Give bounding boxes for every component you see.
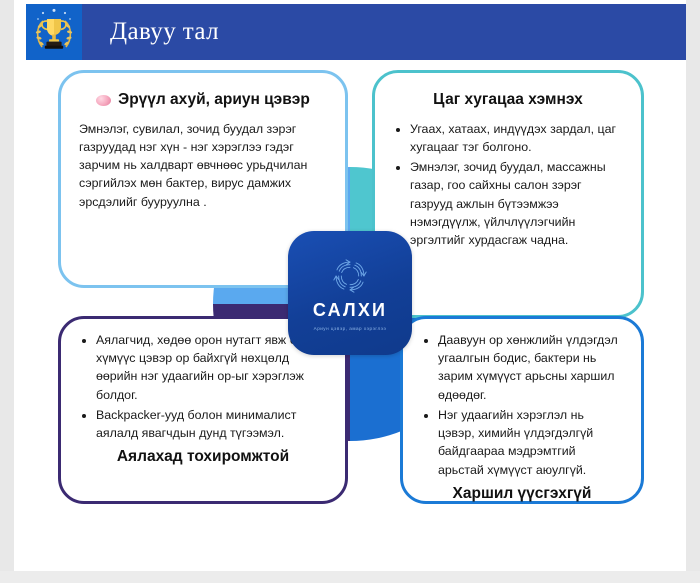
card-time-saving-title: Цаг хугацаа хэмнэх bbox=[393, 91, 623, 110]
card-no-allergy[interactable]: Даавуун ор хөнжлийн үлдэгдэл угаалгын бо… bbox=[400, 316, 644, 504]
card-time-saving-body: Угаах, хатаах, индүүдэх зардал, цаг хуга… bbox=[393, 120, 623, 250]
card-hygiene-paragraph: Эмнэлэг, сувилал, зочид буудал зэрэг газ… bbox=[79, 120, 327, 211]
card-time-saving-bullets: Угаах, хатаах, индүүдэх зардал, цаг хуга… bbox=[393, 120, 623, 250]
card-no-allergy-title: Харшил үүсгэхгүй bbox=[421, 485, 623, 504]
frame-edge-left bbox=[0, 0, 14, 583]
list-item: Угаах, хатаах, индүүдэх зардал, цаг хуга… bbox=[410, 120, 623, 156]
card-hygiene-title-text: Эрүүл ахуй, ариун цэвэр bbox=[118, 91, 310, 110]
page-title: Давуу тал bbox=[110, 18, 219, 46]
logo-tagline: Ариун цэвэр, амар хэрэглээ bbox=[308, 325, 392, 332]
card-hygiene-body: Эмнэлэг, сувилал, зочид буудал зэрэг газ… bbox=[79, 120, 327, 211]
card-travel-friendly-title: Аялахад тохиромжтой bbox=[79, 448, 327, 467]
card-time-saving[interactable]: Цаг хугацаа хэмнэх Угаах, хатаах, индүүд… bbox=[372, 70, 644, 318]
header-bar: Давуу тал bbox=[26, 4, 686, 60]
list-item: Backpacker-ууд болон минималист аялалд я… bbox=[96, 406, 327, 442]
list-item: Нэг удаагийн хэрэглэл нь цэвэр, химийн ү… bbox=[438, 406, 623, 479]
card-no-allergy-body: Даавуун ор хөнжлийн үлдэгдэл угаалгын бо… bbox=[421, 331, 623, 479]
frame-edge-right bbox=[686, 0, 700, 583]
slide-canvas: Давуу тал Эрүүл ахуй, ариун цэвэр Эмнэлэ… bbox=[0, 0, 700, 583]
card-no-allergy-bullets: Даавуун ор хөнжлийн үлдэгдэл угаалгын бо… bbox=[421, 331, 623, 479]
trophy-icon bbox=[29, 7, 79, 57]
card-travel-friendly-body: Аялагчид, хөдөө орон нутагт явж буй хүмү… bbox=[79, 331, 327, 442]
frame-edge-bottom bbox=[0, 571, 700, 583]
soap-icon bbox=[96, 95, 111, 106]
list-item: Даавуун ор хөнжлийн үлдэгдэл угаалгын бо… bbox=[438, 331, 623, 404]
card-travel-friendly-bullets: Аялагчид, хөдөө орон нутагт явж буй хүмү… bbox=[79, 331, 327, 442]
header-badge bbox=[26, 4, 82, 60]
wind-swirl-icon bbox=[325, 256, 375, 296]
center-logo-tile: САЛХИ Ариун цэвэр, амар хэрэглээ bbox=[288, 231, 412, 355]
list-item: Эмнэлэг, зочид буудал, массажны газар, г… bbox=[410, 158, 623, 249]
card-hygiene-title: Эрүүл ахуй, ариун цэвэр bbox=[79, 91, 327, 110]
logo-wordmark: САЛХИ bbox=[313, 300, 387, 321]
card-time-saving-title-text: Цаг хугацаа хэмнэх bbox=[433, 91, 583, 110]
